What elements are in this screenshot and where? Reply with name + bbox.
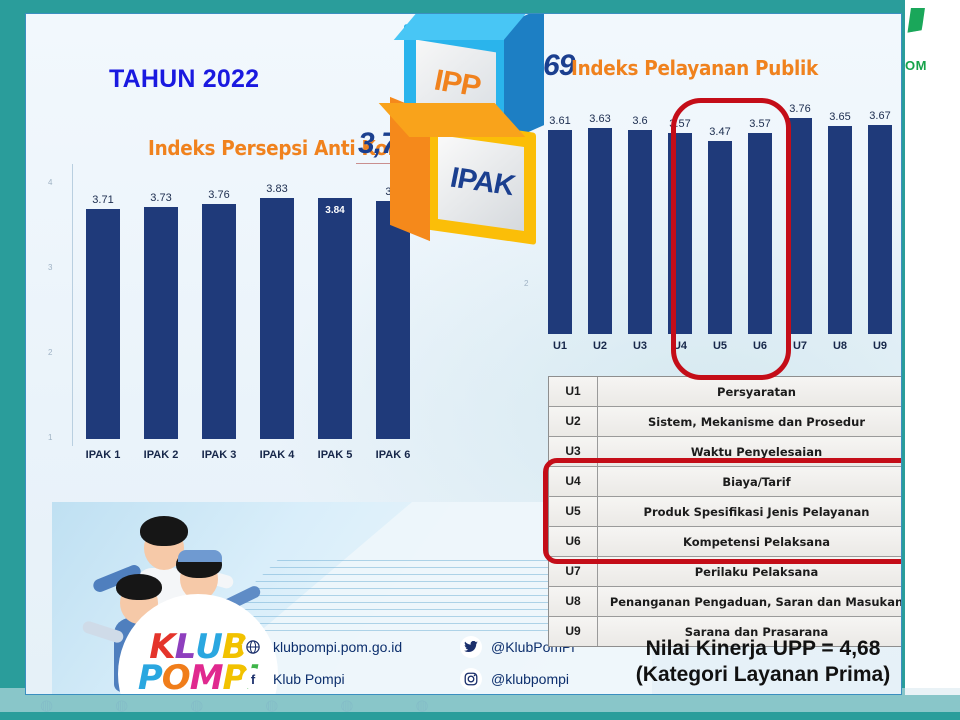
- mascot-adult-hair: [140, 516, 188, 546]
- bar-value-ipak-2: 3.73: [150, 192, 171, 204]
- cube-ipak: IPAK: [424, 109, 579, 264]
- table-row: U3Waktu Penyelesaian: [549, 437, 902, 467]
- ipp-ytick-2: 2: [524, 279, 528, 288]
- unsur-name-u2: Sistem, Mekanisme dan Prosedur: [598, 415, 902, 429]
- ghost-icon-2: ◍: [115, 696, 128, 714]
- bar-value-u3: 3.6: [632, 115, 647, 127]
- bar-value-u2: 3.63: [589, 113, 610, 125]
- bar-ipak-5: [318, 198, 352, 439]
- bar-u2: [588, 128, 612, 334]
- mascot-girl-headband: [178, 550, 222, 562]
- background-white-right: [905, 0, 960, 695]
- ipak-ytick-3: 3: [48, 263, 52, 272]
- bar-value-u8: 3.65: [829, 111, 850, 123]
- cube-ipp-label: IPP: [434, 63, 479, 104]
- bar-value-ipak-1: 3.71: [92, 194, 113, 206]
- unsur-code-u1: U1: [549, 377, 598, 406]
- ghost-icon-6: ◍: [415, 696, 428, 714]
- category-u1: U1: [553, 340, 567, 352]
- bar-value-u5: 3.47: [709, 126, 730, 138]
- bar-value-u6: 3.57: [749, 118, 770, 130]
- unsur-code-u4: U4: [549, 467, 598, 496]
- unsur-code-u6: U6: [549, 527, 598, 556]
- instagram-icon: [460, 668, 482, 690]
- category-u7: U7: [793, 340, 807, 352]
- unsur-name-u8: Penanganan Pengaduan, Saran dan Masukan: [598, 595, 902, 609]
- bar-value-ipak-3: 3.76: [208, 189, 229, 201]
- bar-ipak-1: [86, 209, 120, 439]
- ghost-icon-1: ◍: [40, 696, 53, 714]
- category-ipak-6: IPAK 6: [376, 449, 411, 461]
- bar-value-u9: 3.67: [869, 110, 890, 122]
- ipak-ytick-4: 4: [48, 178, 52, 187]
- ghost-slide-icons: ◍ ◍ ◍ ◍ ◍ ◍: [40, 694, 920, 716]
- bar-value-ipak-4: 3.83: [266, 183, 287, 195]
- bar-u6: [748, 133, 772, 334]
- callout-ipp-label: Indeks Pelayanan Publik: [571, 56, 818, 80]
- unsur-code-u8: U8: [549, 587, 598, 616]
- ghost-icon-4: ◍: [265, 696, 278, 714]
- contact-facebook-label: Klub Pompi: [273, 671, 345, 687]
- category-u2: U2: [593, 340, 607, 352]
- bar-ipak-4: [260, 198, 294, 439]
- category-u8: U8: [833, 340, 847, 352]
- contact-instagram-label: @klubpompi: [491, 671, 569, 687]
- bar-value-u4: 3.57: [669, 118, 690, 130]
- chart-ipp: 2 3.613.633.63.573.473.573.763.653.67 U1…: [526, 69, 902, 369]
- bar-u8: [828, 126, 852, 334]
- ipak-y-axis: [72, 164, 73, 446]
- category-u3: U3: [633, 340, 647, 352]
- bar-u4: [668, 133, 692, 334]
- category-u6: U6: [753, 340, 767, 352]
- slide-canvas: TAHUN 2022 KLUB POMPI: [25, 13, 902, 695]
- unsur-code-u5: U5: [549, 497, 598, 526]
- contact-instagram[interactable]: @klubpompi: [460, 668, 569, 690]
- table-row: U2Sistem, Mekanisme dan Prosedur: [549, 407, 902, 437]
- category-ipak-3: IPAK 3: [202, 449, 237, 461]
- nilai-kinerja-line2: (Kategori Layanan Prima): [608, 662, 902, 688]
- page-title: TAHUN 2022: [109, 65, 259, 94]
- bar-u3: [628, 130, 652, 334]
- category-u4: U4: [673, 340, 687, 352]
- ghost-icon-5: ◍: [340, 696, 353, 714]
- bar-ipak-6: [376, 201, 410, 439]
- table-row: U7Perilaku Pelaksana: [549, 557, 902, 587]
- chart-ipak: 4 3 2 1 3.713.733.763.833.843.8 IPAK 1IP…: [34, 164, 429, 484]
- unsur-code-u9: U9: [549, 617, 598, 646]
- table-row: U8Penanganan Pengaduan, Saran dan Masuka…: [549, 587, 902, 617]
- category-ipak-4: IPAK 4: [260, 449, 295, 461]
- bar-ipak-2: [144, 207, 178, 439]
- category-u5: U5: [713, 340, 727, 352]
- contact-website[interactable]: klubpompi.pom.go.id: [242, 636, 402, 658]
- ipak-ytick-2: 2: [48, 348, 52, 357]
- cube-ipak-text-wrap: IPAK: [442, 147, 522, 216]
- table-row: U5Produk Spesifikasi Jenis Pelayanan: [549, 497, 902, 527]
- table-row: U6Kompetensi Pelaksana: [549, 527, 902, 557]
- unsur-name-u5: Produk Spesifikasi Jenis Pelayanan: [598, 505, 902, 519]
- unsur-code-u7: U7: [549, 557, 598, 586]
- unsur-code-u3: U3: [549, 437, 598, 466]
- facebook-icon: f: [242, 668, 264, 690]
- category-ipak-1: IPAK 1: [86, 449, 121, 461]
- bar-u9: [868, 125, 892, 334]
- mascot-boy-hair: [116, 574, 162, 600]
- bar-u7: [788, 118, 812, 334]
- ipp-bars: 3.613.633.63.573.473.573.763.653.67: [540, 99, 900, 334]
- unsur-name-u1: Persyaratan: [598, 385, 902, 399]
- unsur-code-u2: U2: [549, 407, 598, 436]
- nilai-kinerja-block: Nilai Kinerja UPP = 4,68 (Kategori Layan…: [608, 636, 902, 687]
- unsur-table: U1PersyaratanU2Sistem, Mekanisme dan Pro…: [548, 376, 902, 647]
- nilai-kinerja-line1: Nilai Kinerja UPP = 4,68: [608, 636, 902, 662]
- category-ipak-5: IPAK 5: [318, 449, 353, 461]
- unsur-name-u7: Perilaku Pelaksana: [598, 565, 902, 579]
- ghost-icon-3: ◍: [190, 696, 203, 714]
- globe-icon: [242, 636, 264, 658]
- unsur-name-u4: Biaya/Tarif: [598, 475, 902, 489]
- cube-ipak-label: IPAK: [450, 161, 513, 203]
- table-row: U4Biaya/Tarif: [549, 467, 902, 497]
- category-u9: U9: [873, 340, 887, 352]
- bar-ipak-3: [202, 204, 236, 439]
- twitter-icon: [460, 636, 482, 658]
- partner-logo-text: OM: [905, 58, 927, 73]
- unsur-name-u6: Kompetensi Pelaksana: [598, 535, 902, 549]
- bar-u5: [708, 141, 732, 334]
- contact-facebook[interactable]: f Klub Pompi: [242, 668, 345, 690]
- ipak-ytick-1: 1: [48, 433, 52, 442]
- bar-value-u7: 3.76: [789, 103, 810, 115]
- contact-website-label: klubpompi.pom.go.id: [273, 639, 402, 655]
- category-ipak-2: IPAK 2: [144, 449, 179, 461]
- bar-value-ipak-5: 3.84: [325, 205, 344, 216]
- table-row: U1Persyaratan: [549, 377, 902, 407]
- ipak-bars: 3.713.733.763.833.843.8: [74, 184, 422, 439]
- unsur-name-u3: Waktu Penyelesaian: [598, 445, 902, 459]
